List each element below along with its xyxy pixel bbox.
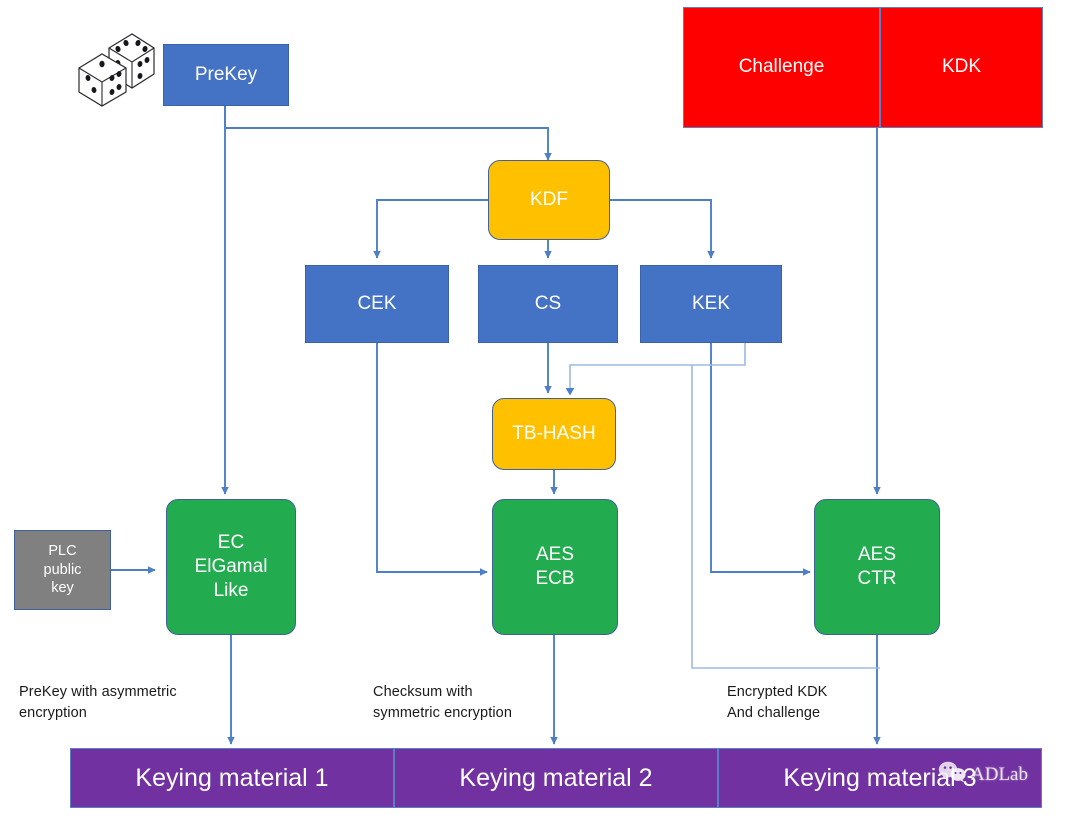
node-kek-label: KEK: [692, 292, 730, 316]
node-aes-ctr-line2: CTR: [857, 567, 896, 591]
node-kdk[interactable]: KDK: [880, 7, 1043, 128]
top-cropped-text: [0, 0, 1080, 7]
annotation-middle: Checksum with symmetric encryption: [373, 682, 603, 724]
node-challenge-label: Challenge: [739, 55, 825, 79]
node-aes-ecb[interactable]: AES ECB: [492, 499, 618, 635]
node-keying-material-2[interactable]: Keying material 2: [394, 748, 718, 808]
node-ec-elgamal-like[interactable]: EC ElGamal Like: [166, 499, 296, 635]
node-ec-elgamal-like-line2: ElGamal: [195, 555, 268, 579]
node-prekey[interactable]: PreKey: [163, 44, 289, 106]
node-prekey-label: PreKey: [195, 63, 257, 87]
node-tb-hash-label: TB-HASH: [512, 422, 595, 446]
node-ec-elgamal-like-line1: EC: [218, 531, 244, 555]
node-aes-ctr[interactable]: AES CTR: [814, 499, 940, 635]
node-aes-ctr-line1: AES: [858, 543, 896, 567]
node-aes-ecb-line1: AES: [536, 543, 574, 567]
node-plc-public-key[interactable]: PLC public key: [14, 530, 111, 610]
node-kdk-label: KDK: [942, 55, 981, 79]
node-keying-material-1-label: Keying material 1: [135, 762, 328, 794]
annotation-right: Encrypted KDK And challenge: [727, 682, 947, 724]
node-plc-public-key-line1: PLC: [48, 542, 76, 561]
node-plc-public-key-line2: public: [44, 561, 82, 580]
dice-icon: [74, 26, 160, 108]
node-cek[interactable]: CEK: [305, 265, 449, 343]
node-tb-hash[interactable]: TB-HASH: [492, 398, 616, 470]
node-keying-material-3[interactable]: Keying material 3: [718, 748, 1042, 808]
node-keying-material-1[interactable]: Keying material 1: [70, 748, 394, 808]
diagram-canvas: PreKey Challenge KDK KDF CEK CS KEK TB-H…: [0, 0, 1080, 823]
node-cs-label: CS: [535, 292, 561, 316]
annotation-left: PreKey with asymmetric encryption: [19, 682, 254, 724]
node-cek-label: CEK: [357, 292, 396, 316]
node-kek[interactable]: KEK: [640, 265, 782, 343]
node-challenge[interactable]: Challenge: [683, 7, 880, 128]
node-keying-material-2-label: Keying material 2: [459, 762, 652, 794]
node-kdf-label: KDF: [530, 188, 568, 212]
node-ec-elgamal-like-line3: Like: [214, 579, 249, 603]
node-kdf[interactable]: KDF: [488, 160, 610, 240]
node-aes-ecb-line2: ECB: [535, 567, 574, 591]
node-plc-public-key-line3: key: [51, 579, 74, 598]
node-cs[interactable]: CS: [478, 265, 618, 343]
node-keying-material-3-label: Keying material 3: [783, 762, 976, 794]
